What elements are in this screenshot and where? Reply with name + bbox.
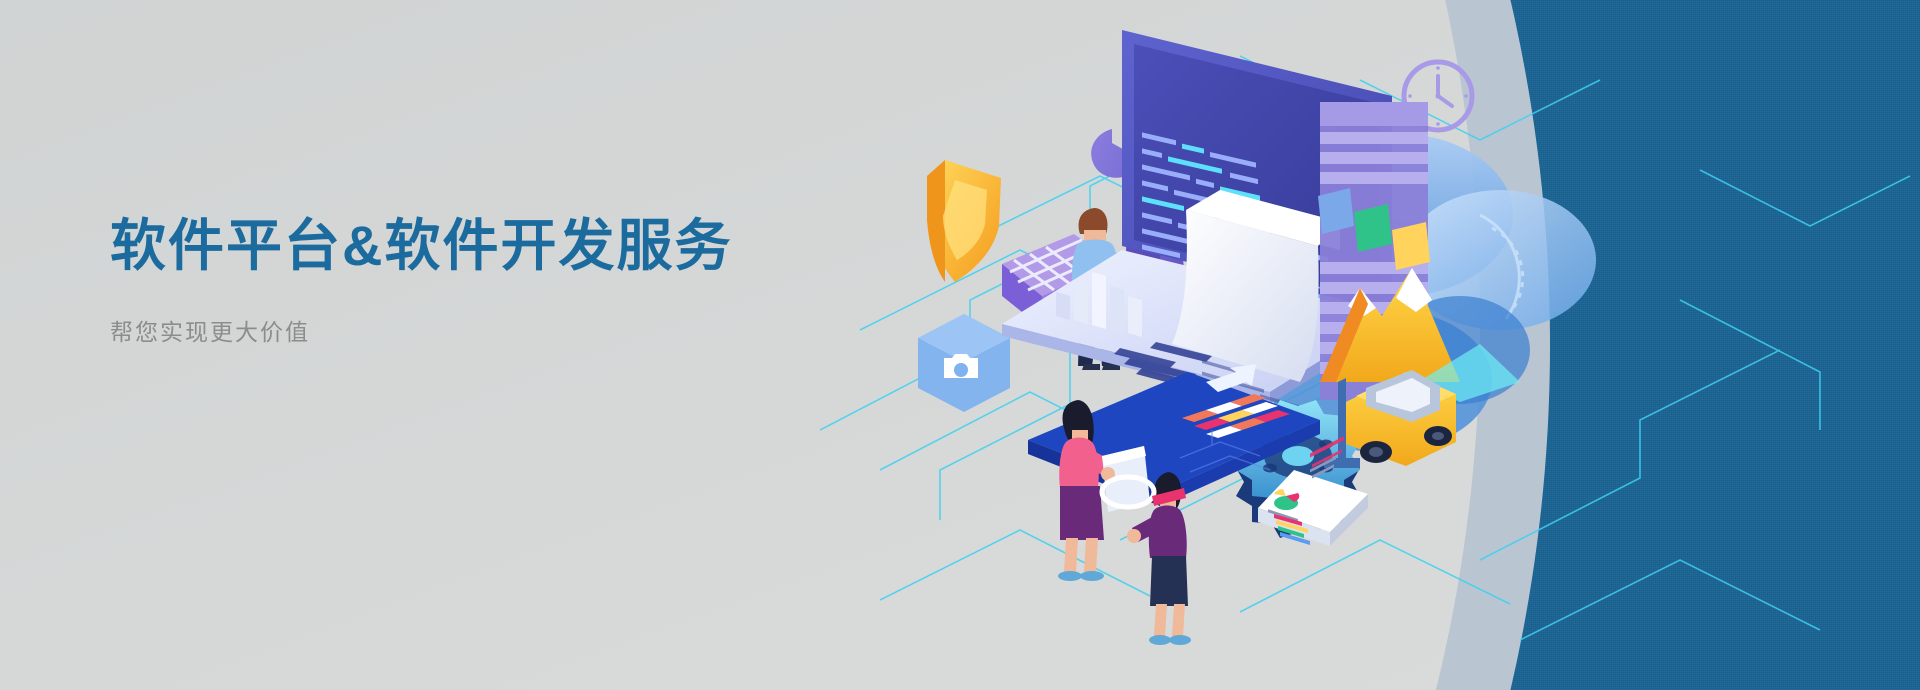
page-subtitle: 帮您实现更大价值 xyxy=(110,313,310,347)
hero-illustration xyxy=(820,0,1920,690)
shield-icon xyxy=(927,160,1001,282)
page-title: 软件平台&软件开发服务 xyxy=(110,215,732,277)
hero-banner: 软件平台&软件开发服务 帮您实现更大价值 xyxy=(0,0,1920,690)
forklift-icon xyxy=(1324,370,1456,468)
camera-tile-icon xyxy=(918,314,1010,412)
